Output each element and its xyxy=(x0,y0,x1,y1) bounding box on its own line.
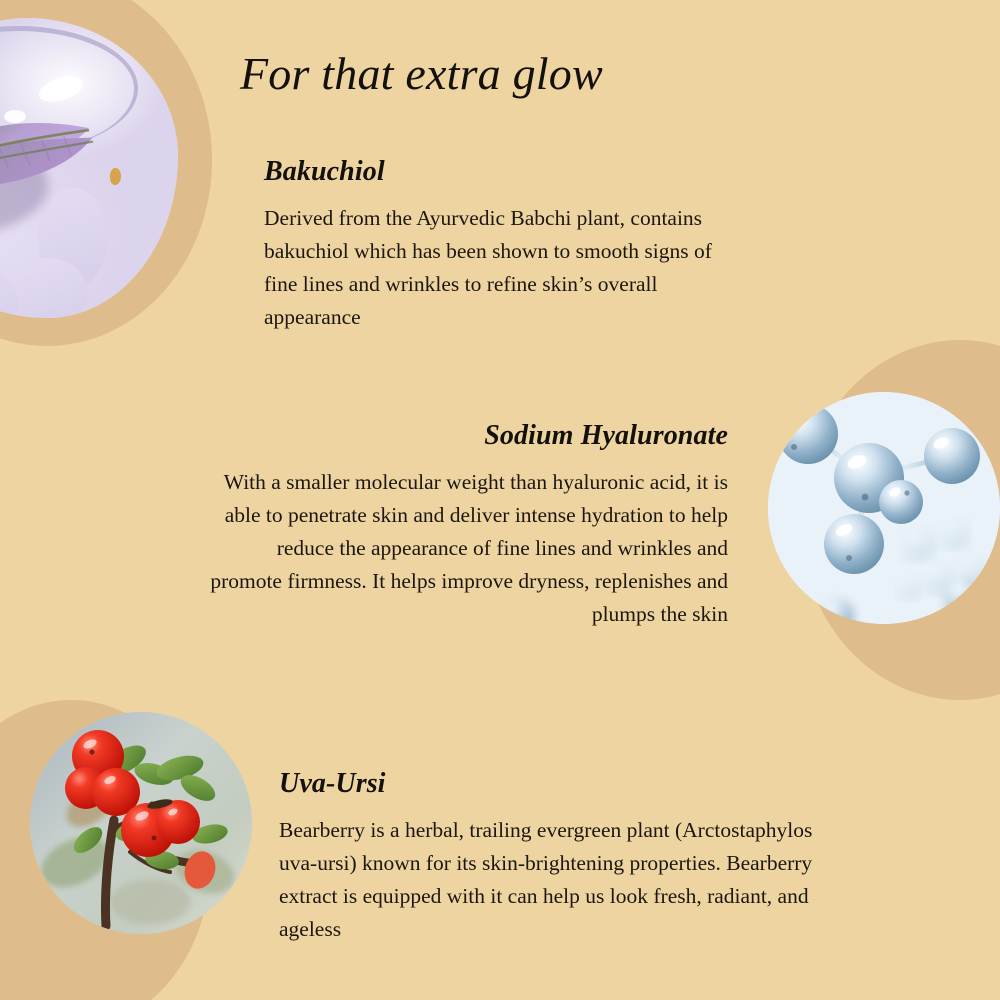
section-uva-ursi-body: Bearberry is a herbal, trailing evergree… xyxy=(279,814,839,946)
section-sodium-hyaluronate-heading: Sodium Hyaluronate xyxy=(200,420,728,452)
section-bakuchiol-heading: Bakuchiol xyxy=(264,156,744,188)
section-sodium-hyaluronate-body: With a smaller molecular weight than hya… xyxy=(200,466,728,631)
bearberry-icon xyxy=(30,712,252,934)
molecule-icon xyxy=(768,392,1000,624)
ingredient-poster: For that extra glow Bakuchiol Derived fr… xyxy=(0,0,1000,1000)
sodium-hyaluronate-image xyxy=(768,392,1000,624)
page-title: For that extra glow xyxy=(240,47,603,100)
uva-ursi-image xyxy=(30,712,252,934)
section-uva-ursi-heading: Uva-Ursi xyxy=(279,768,839,800)
section-bakuchiol: Bakuchiol Derived from the Ayurvedic Bab… xyxy=(264,156,744,334)
section-uva-ursi: Uva-Ursi Bearberry is a herbal, trailing… xyxy=(279,768,839,946)
section-bakuchiol-body: Derived from the Ayurvedic Babchi plant,… xyxy=(264,202,744,334)
section-sodium-hyaluronate: Sodium Hyaluronate With a smaller molecu… xyxy=(200,420,728,631)
